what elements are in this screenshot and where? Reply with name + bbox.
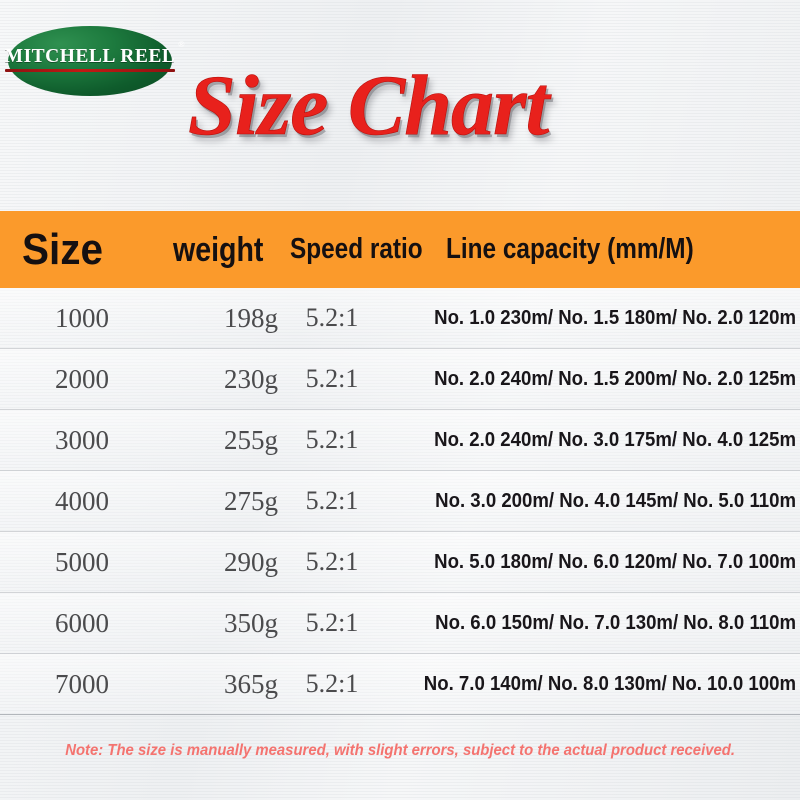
- cell-speed-ratio: 5.2:1: [292, 532, 372, 592]
- table-row: 5000 290g 5.2:1 No. 5.0 180m/ No. 6.0 12…: [0, 532, 800, 593]
- cell-line-capacity: No. 5.0 180m/ No. 6.0 120m/ No. 7.0 100m: [402, 532, 796, 592]
- cell-weight: 198g: [170, 288, 278, 348]
- column-header-size: Size: [22, 228, 103, 272]
- brand-logo-inner: MITCHELL REEL ®: [5, 47, 176, 75]
- cell-size: 2000: [22, 349, 142, 409]
- footer-note: Note: The size is manually measured, wit…: [0, 742, 800, 760]
- table-row: 2000 230g 5.2:1 No. 2.0 240m/ No. 1.5 20…: [0, 349, 800, 410]
- cell-weight: 290g: [170, 532, 278, 592]
- cell-size: 7000: [22, 654, 142, 714]
- cell-line-capacity: No. 6.0 150m/ No. 7.0 130m/ No. 8.0 110m: [402, 593, 796, 653]
- cell-weight: 255g: [170, 410, 278, 470]
- table-header-row: Size weight Speed ratio Line capacity (m…: [0, 211, 800, 288]
- cell-line-capacity: No. 1.0 230m/ No. 1.5 180m/ No. 2.0 120m: [402, 288, 796, 348]
- cell-line-capacity: No. 3.0 200m/ No. 4.0 145m/ No. 5.0 110m: [402, 471, 796, 531]
- cell-size: 4000: [22, 471, 142, 531]
- table-row: 6000 350g 5.2:1 No. 6.0 150m/ No. 7.0 13…: [0, 593, 800, 654]
- size-chart-page: MITCHELL REEL ® Size Chart Size weight S…: [0, 0, 800, 800]
- cell-size: 3000: [22, 410, 142, 470]
- table-row: 3000 255g 5.2:1 No. 2.0 240m/ No. 3.0 17…: [0, 410, 800, 471]
- cell-speed-ratio: 5.2:1: [292, 654, 372, 714]
- column-header-line-capacity: Line capacity (mm/M): [446, 235, 694, 264]
- header-area: MITCHELL REEL ® Size Chart: [0, 0, 800, 210]
- cell-weight: 230g: [170, 349, 278, 409]
- cell-size: 6000: [22, 593, 142, 653]
- cell-line-capacity: No. 2.0 240m/ No. 3.0 175m/ No. 4.0 125m: [402, 410, 796, 470]
- size-table: 1000 198g 5.2:1 No. 1.0 230m/ No. 1.5 18…: [0, 288, 800, 715]
- registered-trademark-icon: ®: [178, 41, 184, 49]
- cell-weight: 365g: [170, 654, 278, 714]
- table-row: 7000 365g 5.2:1 No. 7.0 140m/ No. 8.0 13…: [0, 654, 800, 715]
- brand-logo: MITCHELL REEL ®: [8, 26, 172, 96]
- cell-speed-ratio: 5.2:1: [292, 471, 372, 531]
- cell-speed-ratio: 5.2:1: [292, 410, 372, 470]
- cell-size: 1000: [22, 288, 142, 348]
- cell-weight: 275g: [170, 471, 278, 531]
- column-header-speed-ratio: Speed ratio: [290, 235, 423, 264]
- cell-speed-ratio: 5.2:1: [292, 349, 372, 409]
- cell-line-capacity: No. 7.0 140m/ No. 8.0 130m/ No. 10.0 100…: [402, 654, 796, 714]
- cell-speed-ratio: 5.2:1: [292, 593, 372, 653]
- cell-weight: 350g: [170, 593, 278, 653]
- brand-logo-underline: [5, 69, 176, 72]
- cell-size: 5000: [22, 532, 142, 592]
- table-row: 4000 275g 5.2:1 No. 3.0 200m/ No. 4.0 14…: [0, 471, 800, 532]
- table-row: 1000 198g 5.2:1 No. 1.0 230m/ No. 1.5 18…: [0, 288, 800, 349]
- footer-note-text: Note: The size is manually measured, wit…: [65, 742, 735, 760]
- page-title: Size Chart: [188, 62, 548, 148]
- cell-line-capacity: No. 2.0 240m/ No. 1.5 200m/ No. 2.0 125m: [402, 349, 796, 409]
- column-header-weight: weight: [173, 233, 263, 267]
- cell-speed-ratio: 5.2:1: [292, 288, 372, 348]
- brand-logo-text: MITCHELL REEL: [5, 47, 176, 67]
